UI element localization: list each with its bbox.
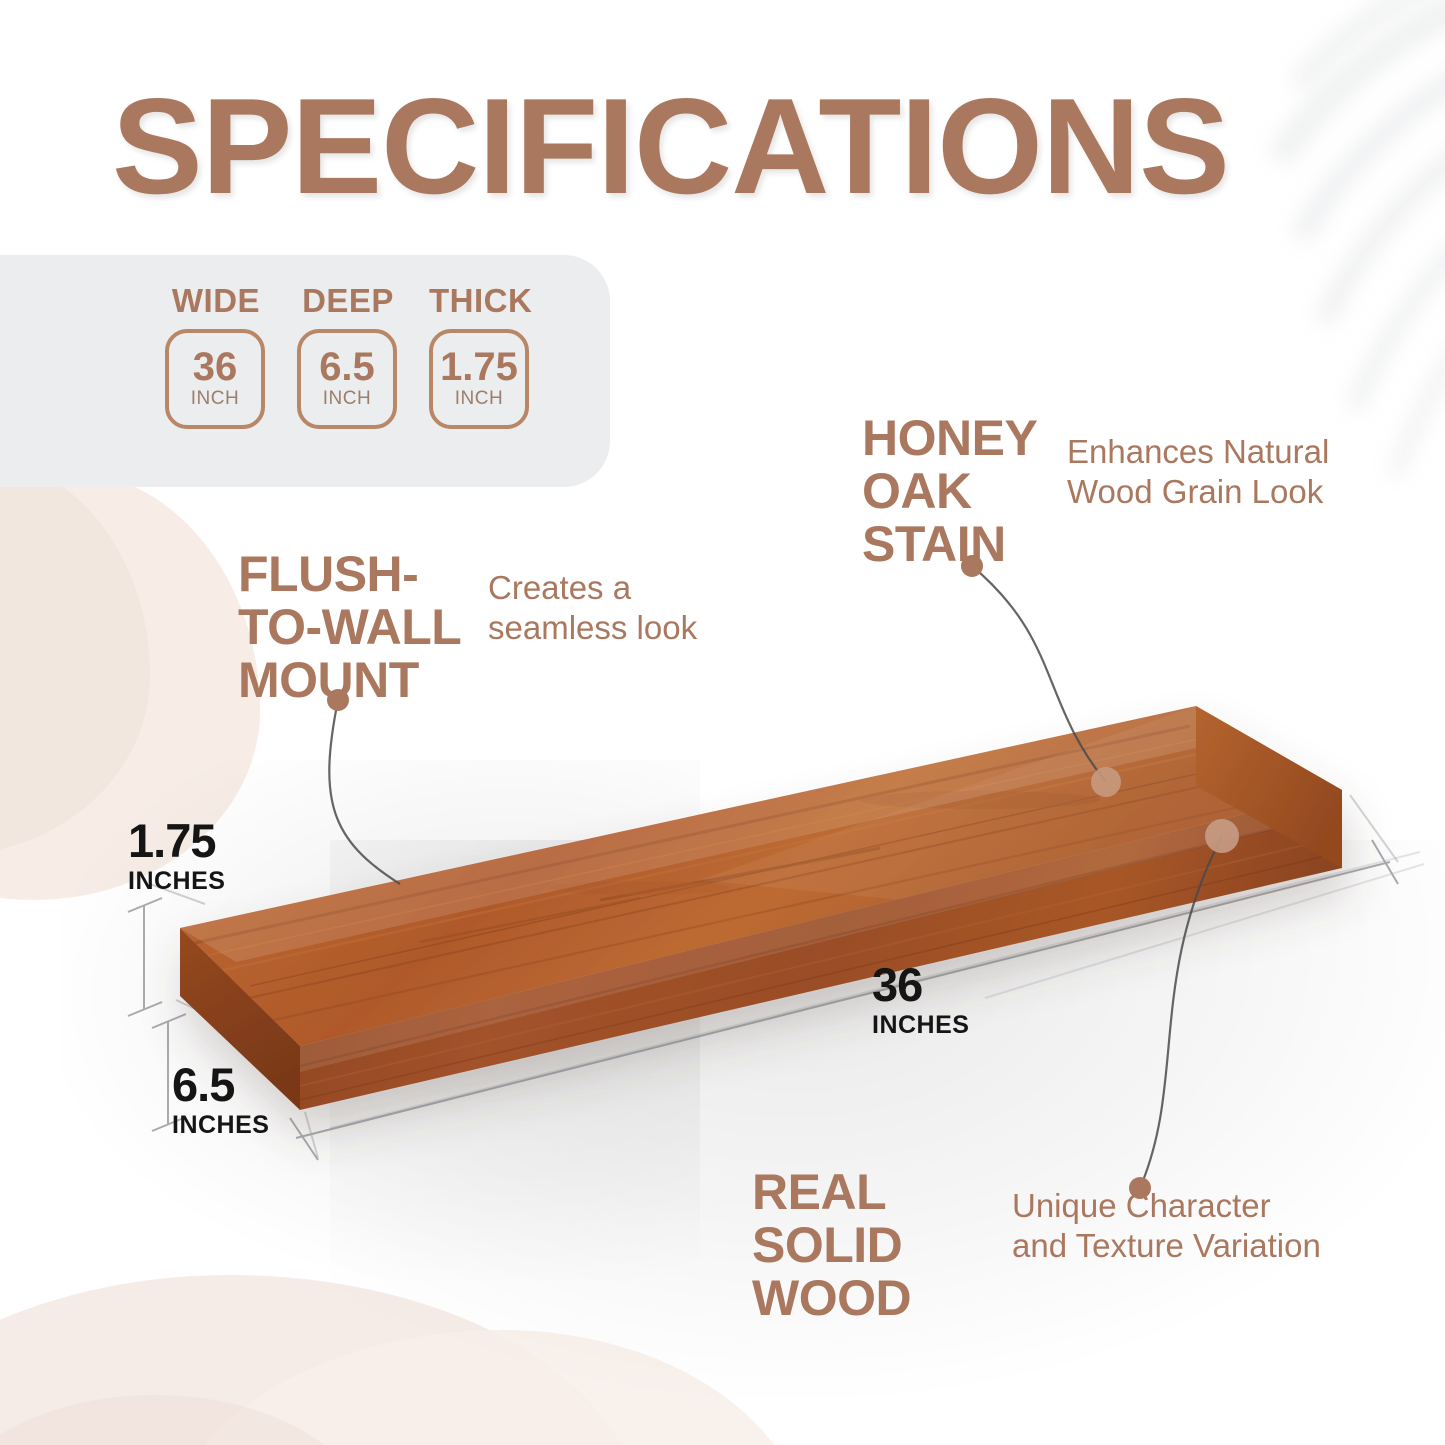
spec-unit-wide: INCH [191,388,239,410]
spec-unit-deep: INCH [323,388,371,410]
dimension-label-depth: 6.5 INCHES [172,1062,269,1140]
dimension-unit-depth: INCHES [172,1111,269,1140]
feature-callout-real-solid-wood: REAL SOLID WOOD Unique Character and Tex… [752,1166,1372,1325]
spec-value-wide: 36 [193,348,238,386]
spec-badge-thick: THICK 1.75 INCH [429,282,531,429]
feature-title-honey-oak-stain: HONEY OAK STAIN [862,412,1057,571]
spec-value-thick: 1.75 [440,348,518,386]
feature-callout-honey-oak-stain: HONEY OAK STAIN Enhances Natural Wood Gr… [862,412,1382,571]
spec-badge-wide: WIDE 36 INCH [165,282,267,429]
spec-box-thick: 1.75 INCH [429,329,529,429]
specifications-infographic: SPECIFICATIONS WIDE 36 INCH DEEP 6.5 INC… [0,0,1445,1445]
dimension-label-thickness: 1.75 INCHES [128,818,225,896]
feature-desc-real-solid-wood: Unique Character and Texture Variation [1012,1186,1321,1267]
dimension-label-width: 36 INCHES [872,962,969,1040]
dimension-value-thickness: 1.75 [128,818,225,864]
feature-desc-flush-to-wall-mount: Creates a seamless look [488,568,697,649]
dimension-value-depth: 6.5 [172,1062,269,1108]
spec-value-deep: 6.5 [319,348,375,386]
feature-desc-honey-oak-stain: Enhances Natural Wood Grain Look [1067,432,1329,513]
dimension-unit-thickness: INCHES [128,867,225,896]
spec-badge-row: WIDE 36 INCH DEEP 6.5 INCH THICK 1.75 IN… [165,282,531,429]
spec-label-thick: THICK [429,282,531,320]
spec-unit-thick: INCH [455,388,503,410]
spec-label-deep: DEEP [297,282,399,320]
spec-label-wide: WIDE [165,282,267,320]
feature-callout-flush-to-wall-mount: FLUSH-TO-WALL MOUNT Creates a seamless l… [238,548,738,707]
spec-box-deep: 6.5 INCH [297,329,397,429]
spec-box-wide: 36 INCH [165,329,265,429]
spec-badge-deep: DEEP 6.5 INCH [297,282,399,429]
feature-title-flush-to-wall-mount: FLUSH-TO-WALL MOUNT [238,548,478,707]
dimension-value-width: 36 [872,962,969,1008]
feature-title-real-solid-wood: REAL SOLID WOOD [752,1166,1002,1325]
dimension-unit-width: INCHES [872,1011,969,1040]
page-title: SPECIFICATIONS [112,78,1229,214]
